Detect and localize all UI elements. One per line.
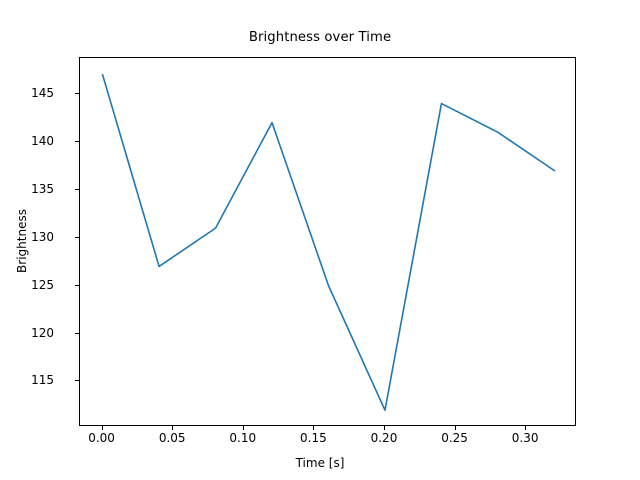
x-tick-label: 0.20 xyxy=(371,431,398,445)
y-tick-mark xyxy=(75,237,79,238)
x-tick-label: 0.25 xyxy=(441,431,468,445)
x-tick-mark xyxy=(172,426,173,430)
y-tick-label: 135 xyxy=(31,182,54,196)
x-tick-mark xyxy=(102,426,103,430)
y-tick-mark xyxy=(75,380,79,381)
y-tick-mark xyxy=(75,189,79,190)
line-series-svg xyxy=(80,58,577,427)
y-axis-label: Brightness xyxy=(14,121,30,361)
y-tick-label: 145 xyxy=(31,86,54,100)
x-axis-label: Time [s] xyxy=(0,456,640,470)
y-tick-mark xyxy=(75,93,79,94)
x-tick-label: 0.30 xyxy=(512,431,539,445)
y-tick-label: 140 xyxy=(31,134,54,148)
plot-area xyxy=(79,57,576,426)
x-tick-label: 0.10 xyxy=(229,431,256,445)
chart-figure: Brightness over Time 1151201251301351401… xyxy=(0,0,640,480)
brightness-line xyxy=(103,75,555,410)
y-tick-mark xyxy=(75,141,79,142)
y-tick-label: 125 xyxy=(31,278,54,292)
y-tick-label: 120 xyxy=(31,326,54,340)
chart-title: Brightness over Time xyxy=(0,30,640,45)
x-tick-label: 0.00 xyxy=(88,431,115,445)
x-tick-mark xyxy=(455,426,456,430)
y-tick-mark xyxy=(75,333,79,334)
x-tick-mark xyxy=(313,426,314,430)
x-tick-label: 0.15 xyxy=(300,431,327,445)
x-tick-mark xyxy=(243,426,244,430)
x-tick-mark xyxy=(525,426,526,430)
y-tick-mark xyxy=(75,285,79,286)
x-tick-label: 0.05 xyxy=(159,431,186,445)
x-tick-mark xyxy=(384,426,385,430)
y-tick-label: 115 xyxy=(31,373,54,387)
y-tick-label: 130 xyxy=(31,230,54,244)
